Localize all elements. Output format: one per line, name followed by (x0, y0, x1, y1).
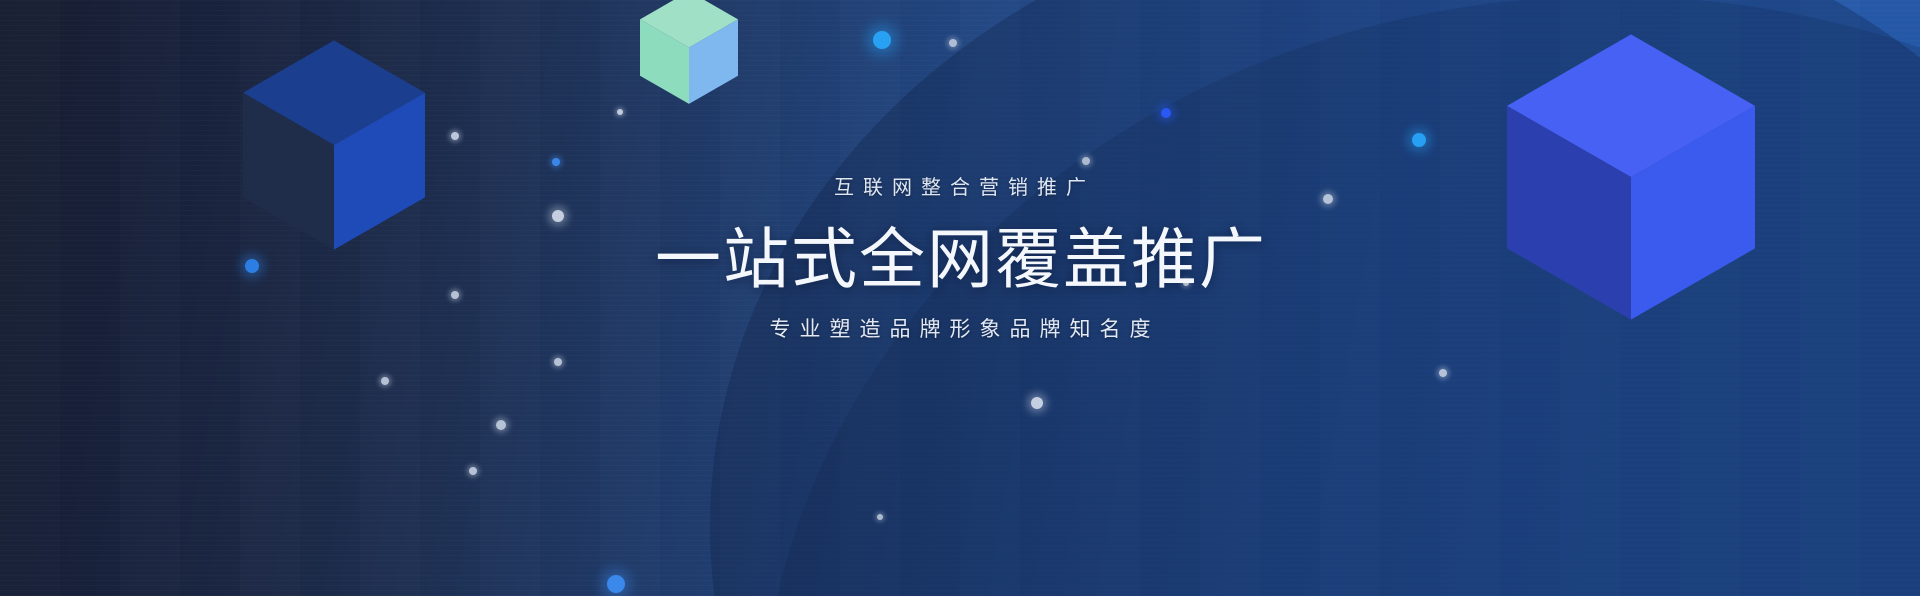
hero-headline: 一站式全网覆盖推广 (0, 224, 1920, 295)
hero-eyebrow: 互联网整合营销推广 (0, 178, 1920, 198)
hero-banner: 互联网整合营销推广 一站式全网覆盖推广 专业塑造品牌形象品牌知名度 (0, 0, 1920, 596)
hero-tagline: 专业塑造品牌形象品牌知名度 (0, 319, 1920, 340)
particle-dot (554, 358, 562, 366)
particle-dot (617, 109, 623, 115)
particle-dot (552, 158, 560, 166)
particle-dot (1082, 157, 1090, 165)
particle-dot (381, 377, 389, 385)
particle-dot (1031, 397, 1043, 409)
hero-copy: 互联网整合营销推广 一站式全网覆盖推广 专业塑造品牌形象品牌知名度 (0, 178, 1920, 340)
particle-dot (1412, 133, 1426, 147)
particle-dot (496, 420, 506, 430)
particle-dot (607, 575, 625, 593)
particle-dot (1161, 108, 1171, 118)
particle-dot (949, 39, 957, 47)
particle-dot (469, 467, 477, 475)
particle-dot (877, 514, 883, 520)
particle-dot (451, 132, 459, 140)
teal-cube (640, 0, 738, 104)
particle-dot (1439, 369, 1447, 377)
particle-dot (873, 31, 891, 49)
